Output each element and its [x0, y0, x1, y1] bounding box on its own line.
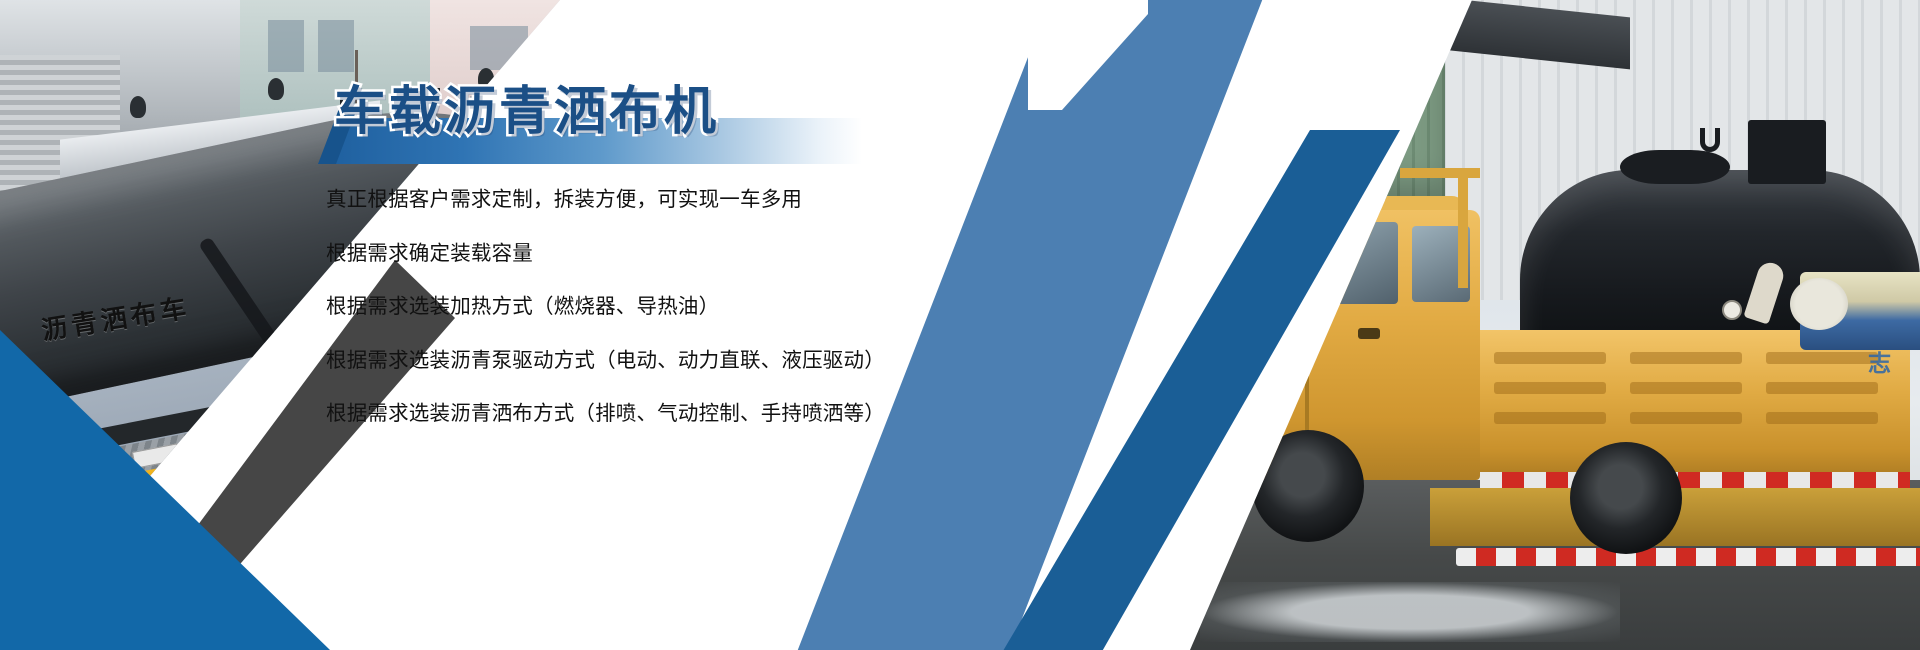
photo-bed-slat: [1766, 352, 1878, 364]
photo-bed-slat: [1630, 382, 1742, 394]
photo-truck-bed-side: [1480, 330, 1910, 480]
photo-lamp: [268, 78, 284, 100]
feature-list: 真正根据客户需求定制，拆装方便，可实现一车多用 根据需求确定装载容量 根据需求选…: [326, 190, 886, 458]
product-banner: 沥青洒布车: [0, 0, 1920, 650]
photo-bed-slat: [1766, 412, 1878, 424]
photo-side-reflector-stripe: [1480, 472, 1910, 488]
photo-tank-hook: [1700, 128, 1720, 152]
feature-item: 根据需求选装加热方式（燃烧器、导热油）: [326, 297, 886, 318]
photo-door-logo: 志: [1868, 352, 1920, 398]
photo-wet-patch: [1200, 582, 1620, 642]
photo-window: [268, 20, 304, 72]
photo-rear-bumper: [1456, 548, 1920, 566]
photo-tank-chimney-box: [1748, 120, 1826, 184]
photo-bed-slat: [1766, 382, 1878, 394]
feature-item: 根据需求选装沥青泵驱动方式（电动、动力直联、液压驱动）: [326, 351, 886, 372]
feature-item: 根据需求选装沥青洒布方式（排喷、气动控制、手持喷洒等）: [326, 404, 886, 425]
photo-pressure-gauge: [1722, 300, 1742, 320]
photo-headboard-post: [1458, 168, 1468, 288]
feature-item: 真正根据客户需求定制，拆装方便，可实现一车多用: [326, 190, 886, 211]
photo-reflector: [179, 434, 227, 459]
photo-bed-slat: [1494, 382, 1606, 394]
photo-tank-hatch: [1620, 150, 1730, 184]
photo-front-wheel: [1252, 430, 1364, 542]
feature-item: 根据需求确定装载容量: [326, 244, 886, 265]
photo-door-handle: [1358, 328, 1380, 339]
photo-rear-wheel: [1570, 442, 1682, 554]
photo-engine-air-filter: [1790, 278, 1848, 330]
photo-bed-slat: [1494, 412, 1606, 424]
photo-headboard-rail: [1400, 168, 1480, 178]
photo-bed-slat: [1630, 352, 1742, 364]
photo-reflector: [132, 443, 180, 468]
photo-bed-slat: [1630, 412, 1742, 424]
photo-bed-slat: [1494, 352, 1606, 364]
page-title: 车载沥青洒布机: [334, 86, 719, 138]
photo-lamp: [130, 96, 146, 118]
banner-text-content: 车载沥青洒布机 真正根据客户需求定制，拆装方便，可实现一车多用 根据需求确定装载…: [322, 0, 882, 650]
